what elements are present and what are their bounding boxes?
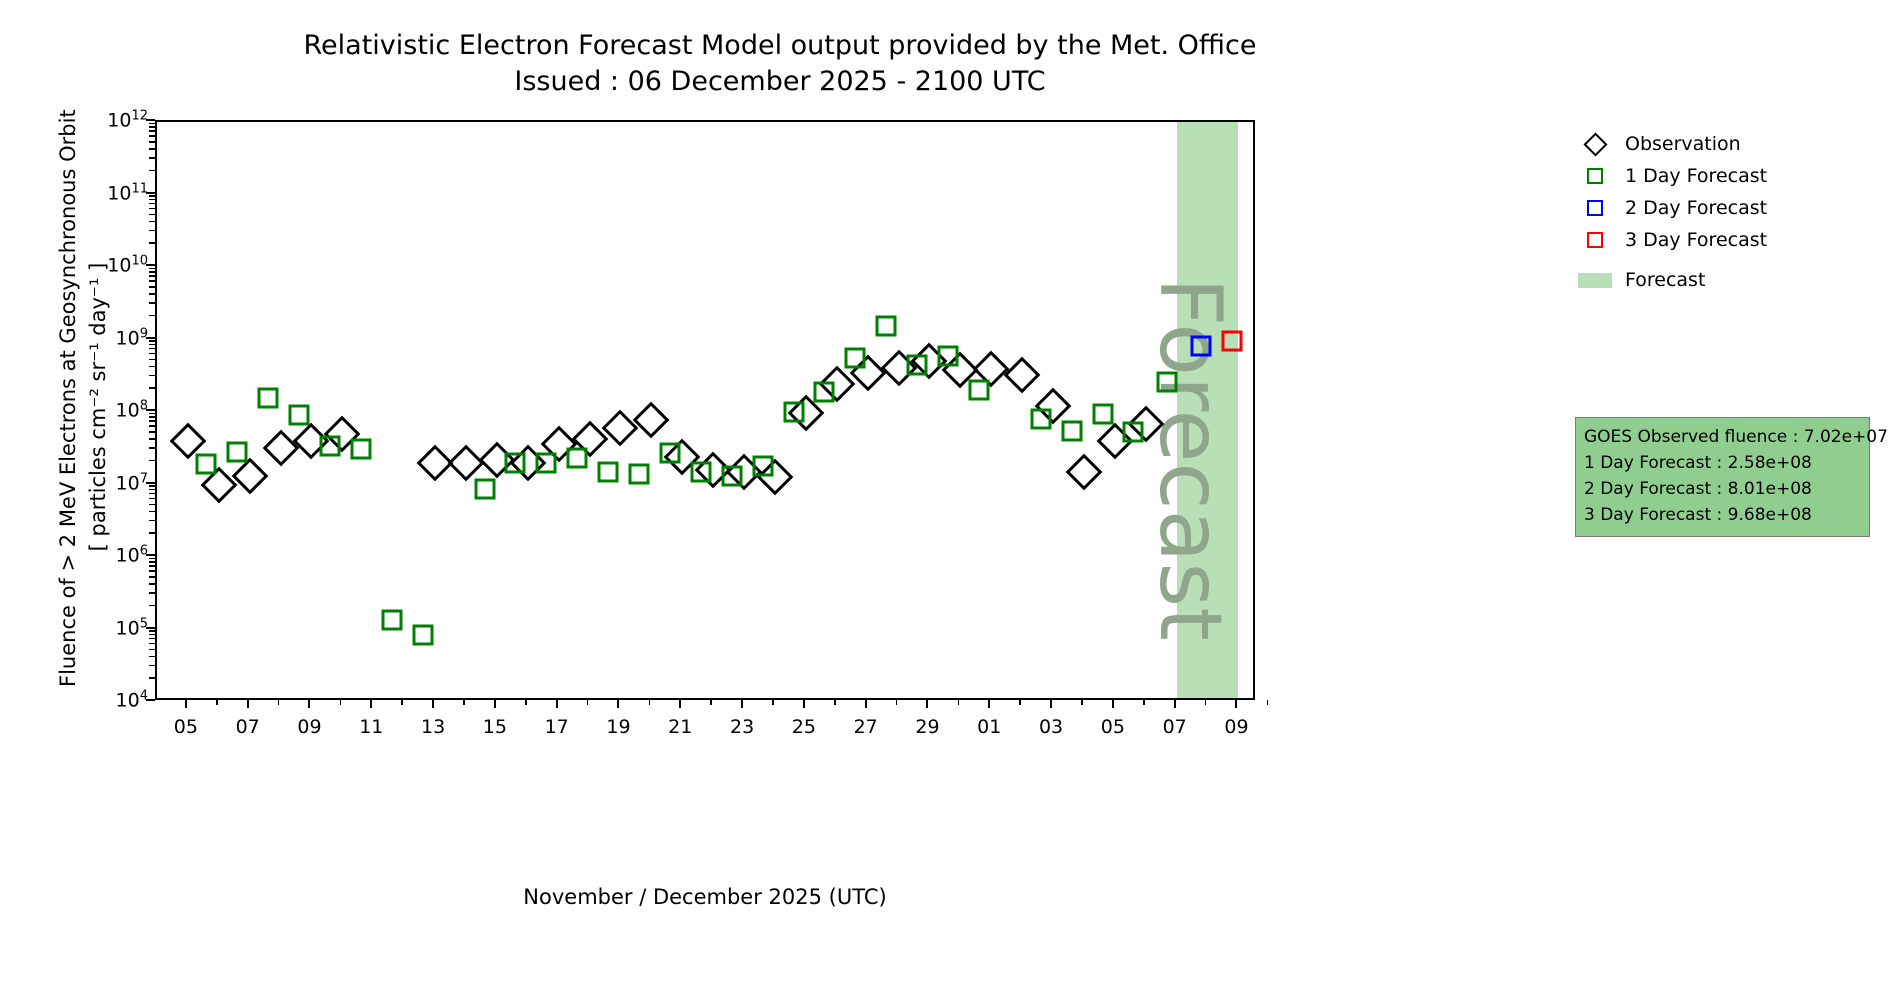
forecast-marker — [907, 355, 928, 376]
forecast-marker — [598, 461, 619, 482]
x-tick-minor — [278, 700, 280, 705]
x-axis-ticks: 050709111315171921232527290103050709 — [155, 700, 1255, 740]
y-tick-label: 108 — [116, 398, 148, 421]
y-tick-major — [146, 337, 155, 339]
x-tick-minor — [1081, 700, 1083, 705]
x-tick-label: 05 — [1101, 716, 1125, 738]
x-tick-label: 23 — [730, 716, 754, 738]
legend-symbol — [1575, 273, 1615, 288]
x-tick-major — [185, 700, 187, 708]
forecast-marker — [938, 345, 959, 366]
forecast-square-icon — [1587, 200, 1603, 216]
x-tick-major — [865, 700, 867, 708]
x-tick-label: 27 — [854, 716, 878, 738]
forecast-marker — [227, 442, 248, 463]
y-tick-major — [146, 554, 155, 556]
legend-item[interactable]: Observation — [1575, 128, 1875, 160]
forecast-marker — [876, 315, 897, 336]
y-tick-label: 1010 — [107, 253, 148, 276]
forecast-marker — [1092, 403, 1113, 424]
observation-marker — [262, 429, 299, 466]
x-tick-label: 29 — [915, 716, 939, 738]
legend-item[interactable]: Forecast — [1575, 264, 1875, 296]
forecast-marker — [845, 348, 866, 369]
legend-symbol — [1575, 200, 1615, 216]
forecast-marker — [258, 388, 279, 409]
y-tick-label: 105 — [116, 616, 148, 639]
x-tick-label: 11 — [359, 716, 383, 738]
legend-symbol — [1575, 232, 1615, 248]
x-tick-minor — [958, 700, 960, 705]
x-tick-minor — [216, 700, 218, 705]
x-tick-minor — [463, 700, 465, 705]
y-tick-label: 104 — [116, 688, 148, 711]
forecast-square-icon — [1587, 168, 1603, 184]
forecast-marker — [196, 454, 217, 475]
legend-item-label: 3 Day Forecast — [1615, 229, 1767, 251]
y-tick-major — [146, 627, 155, 629]
forecast-marker — [968, 380, 989, 401]
x-tick-major — [1112, 700, 1114, 708]
x-tick-major — [1235, 700, 1237, 708]
info-box-line: 3 Day Forecast : 9.68e+08 — [1584, 502, 1861, 528]
x-tick-label: 01 — [977, 716, 1001, 738]
legend-item-label: Forecast — [1615, 269, 1705, 291]
legend-item-label: 1 Day Forecast — [1615, 165, 1767, 187]
x-tick-major — [988, 700, 990, 708]
x-tick-minor — [525, 700, 527, 705]
legend-symbol — [1575, 168, 1615, 184]
y-tick-label: 109 — [116, 326, 148, 349]
forecast-marker — [1123, 421, 1144, 442]
x-tick-major — [1050, 700, 1052, 708]
x-tick-major — [432, 700, 434, 708]
x-tick-label: 17 — [545, 716, 569, 738]
x-tick-label: 15 — [483, 716, 507, 738]
y-tick-major — [146, 409, 155, 411]
title-line-2: Issued : 06 December 2025 - 2100 UTC — [0, 64, 1560, 100]
x-tick-minor — [1019, 700, 1021, 705]
y-tick-major — [146, 119, 155, 121]
forecast-marker — [721, 466, 742, 487]
info-box-line: GOES Observed fluence : 7.02e+07 — [1584, 424, 1861, 450]
x-tick-major — [741, 700, 743, 708]
info-box-line: 1 Day Forecast : 2.58e+08 — [1584, 450, 1861, 476]
forecast-marker — [752, 455, 773, 476]
forecast-marker — [289, 405, 310, 426]
observation-marker — [633, 401, 670, 438]
x-tick-major — [556, 700, 558, 708]
x-tick-major — [370, 700, 372, 708]
x-tick-major — [617, 700, 619, 708]
y-tick-major — [146, 264, 155, 266]
forecast-band-swatch-icon — [1578, 273, 1612, 288]
legend-symbol — [1575, 136, 1615, 153]
legend-item[interactable]: 1 Day Forecast — [1575, 160, 1875, 192]
x-tick-minor — [401, 700, 403, 705]
y-tick-major — [146, 699, 155, 701]
x-tick-label: 09 — [1224, 716, 1248, 738]
chart-canvas: Relativistic Electron Forecast Model out… — [0, 0, 1900, 1000]
forecast-marker — [1061, 420, 1082, 441]
info-box-line: 2 Day Forecast : 8.01e+08 — [1584, 476, 1861, 502]
x-tick-label: 09 — [297, 716, 321, 738]
x-tick-major — [494, 700, 496, 708]
forecast-marker — [1222, 330, 1243, 351]
forecast-marker — [783, 402, 804, 423]
x-tick-minor — [340, 700, 342, 705]
fluence-info-box: GOES Observed fluence : 7.02e+071 Day Fo… — [1575, 417, 1870, 537]
x-tick-label: 21 — [668, 716, 692, 738]
x-tick-label: 25 — [792, 716, 816, 738]
forecast-marker — [505, 452, 526, 473]
x-tick-major — [803, 700, 805, 708]
forecast-marker — [690, 461, 711, 482]
x-tick-label: 13 — [421, 716, 445, 738]
observation-diamond-icon — [1583, 132, 1607, 156]
observation-marker — [448, 445, 485, 482]
title-line-1: Relativistic Electron Forecast Model out… — [0, 28, 1560, 64]
x-tick-label: 05 — [174, 716, 198, 738]
x-tick-major — [679, 700, 681, 708]
forecast-marker — [474, 478, 495, 499]
observation-marker — [1004, 357, 1041, 394]
x-tick-minor — [772, 700, 774, 705]
x-tick-label: 19 — [606, 716, 630, 738]
forecast-marker — [320, 435, 341, 456]
forecast-marker — [629, 463, 650, 484]
forecast-marker — [412, 624, 433, 645]
x-tick-minor — [587, 700, 589, 705]
x-tick-minor — [896, 700, 898, 705]
observation-marker — [602, 410, 639, 447]
legend-item[interactable]: 2 Day Forecast — [1575, 192, 1875, 224]
forecast-square-icon — [1587, 232, 1603, 248]
chart-legend: Observation1 Day Forecast2 Day Forecast3… — [1575, 128, 1875, 296]
forecast-marker — [1157, 372, 1178, 393]
forecast-marker — [659, 443, 680, 464]
x-tick-minor — [649, 700, 651, 705]
forecast-marker — [567, 448, 588, 469]
y-tick-major — [146, 482, 155, 484]
y-tick-label: 1012 — [107, 108, 148, 131]
x-tick-minor — [1267, 700, 1269, 705]
y-tick-label: 106 — [116, 543, 148, 566]
x-tick-minor — [1205, 700, 1207, 705]
x-tick-minor — [834, 700, 836, 705]
forecast-marker — [1030, 409, 1051, 430]
x-tick-major — [308, 700, 310, 708]
forecast-marker — [381, 610, 402, 631]
x-tick-label: 07 — [1163, 716, 1187, 738]
y-tick-label: 1011 — [107, 181, 148, 204]
y-tick-label: 107 — [116, 471, 148, 494]
legend-item-label: Observation — [1615, 133, 1741, 155]
forecast-marker — [536, 452, 557, 473]
observation-marker — [1066, 453, 1103, 490]
x-axis-label: November / December 2025 (UTC) — [155, 885, 1255, 909]
x-tick-major — [1174, 700, 1176, 708]
x-tick-minor — [1143, 700, 1145, 705]
y-tick-major — [146, 192, 155, 194]
x-tick-major — [926, 700, 928, 708]
observation-marker — [231, 458, 268, 495]
forecast-marker — [1191, 336, 1212, 357]
plot-area: Forecast — [155, 120, 1255, 700]
x-tick-minor — [710, 700, 712, 705]
forecast-marker — [350, 438, 371, 459]
forecast-marker — [814, 381, 835, 402]
x-tick-major — [247, 700, 249, 708]
x-tick-label: 03 — [1039, 716, 1063, 738]
y-axis-ticks: 101210111010109108107106105104 — [60, 120, 148, 700]
legend-item-label: 2 Day Forecast — [1615, 197, 1767, 219]
legend-item[interactable]: 3 Day Forecast — [1575, 224, 1875, 256]
x-tick-label: 07 — [236, 716, 260, 738]
chart-title: Relativistic Electron Forecast Model out… — [0, 28, 1560, 100]
